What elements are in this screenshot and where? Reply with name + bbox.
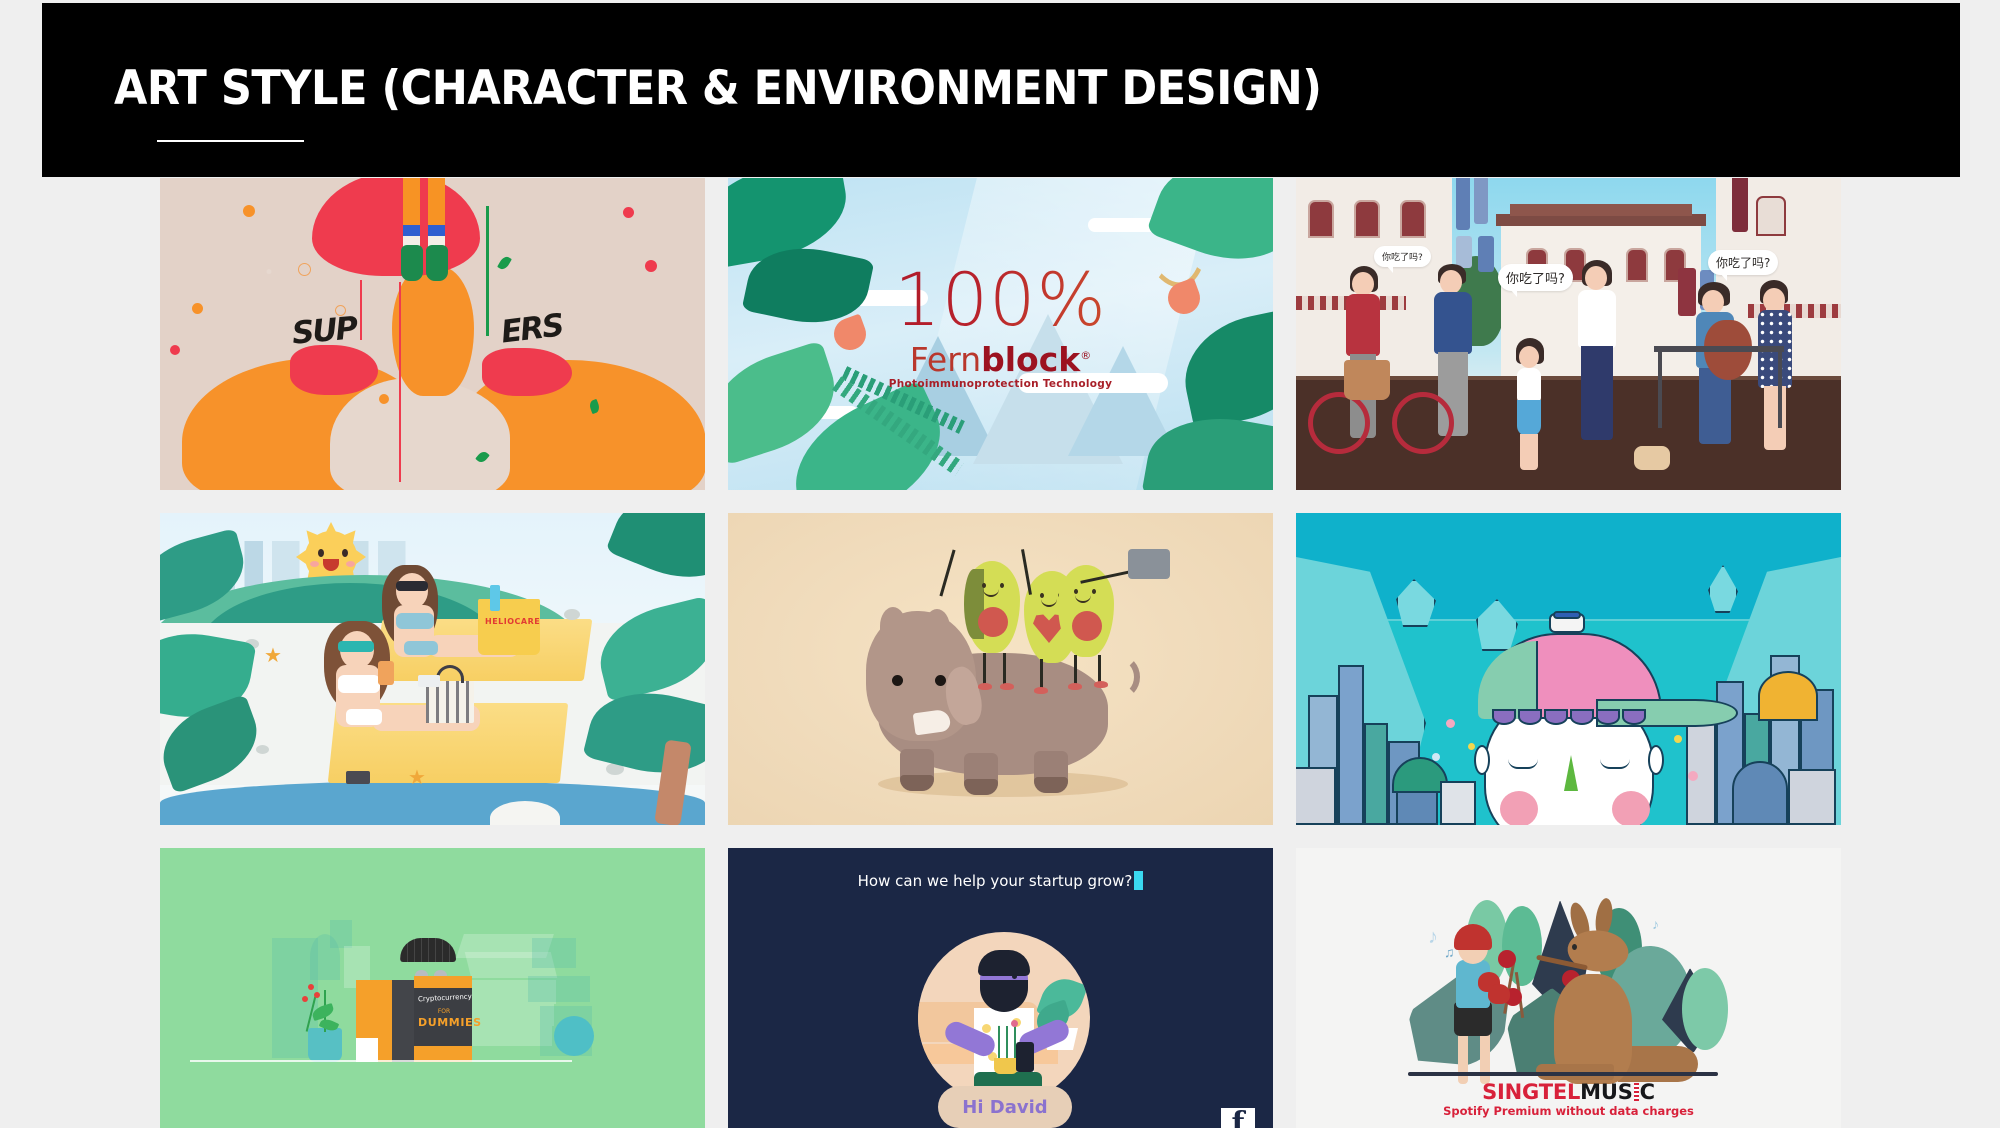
- kangaroo-eye: [1572, 944, 1577, 950]
- book-pages: [356, 1038, 378, 1062]
- bangs-5: [1596, 709, 1620, 725]
- bubble-5: [1688, 771, 1698, 781]
- phone-front: [346, 771, 370, 784]
- book-series-label: DUMMIES: [418, 1016, 470, 1029]
- brand-mus: MUS: [1580, 1080, 1632, 1104]
- artwork-gallery-grid: SUP ERS 100%: [160, 178, 1842, 1114]
- brand-light-part: Fern: [910, 340, 981, 379]
- boxing-glove-2: [1488, 984, 1510, 1004]
- rhino-ear-left: [880, 607, 906, 645]
- orange-blob-center: [392, 266, 474, 396]
- bangs-2: [1518, 709, 1542, 725]
- red-shape-right: [482, 348, 572, 396]
- brand-singtel: SINGTEL: [1482, 1080, 1580, 1104]
- fernblock-tagline: Photoimmunoprotection Technology: [728, 378, 1273, 390]
- plant-berry-3: [314, 992, 320, 998]
- starfish-1: ★: [264, 643, 282, 668]
- building-3: [1364, 723, 1388, 825]
- fernblock-lockup: 100% Fernblock® Photoimmunoprotection Te…: [728, 264, 1273, 390]
- music-note-1: ♪: [1428, 926, 1438, 949]
- book-dark-spine: [392, 980, 414, 1062]
- dot-5: [170, 345, 180, 355]
- shirt-flower-1: [982, 1024, 991, 1033]
- building-7: [1440, 781, 1476, 825]
- busker-table: [1654, 346, 1784, 352]
- gallery-item-crypto-dummies[interactable]: Cryptocurrency FOR DUMMIES: [160, 848, 705, 1128]
- building-5: [1296, 767, 1336, 825]
- laundry-6: [1678, 268, 1696, 316]
- dot-1: [243, 205, 255, 217]
- rock-4: [256, 745, 269, 754]
- book-for-label: FOR: [418, 1008, 470, 1015]
- window-3: [1400, 200, 1426, 238]
- window-6: [1626, 248, 1648, 282]
- gallery-item-beach-sunbathers[interactable]: HELIOCARE ★ ★: [160, 513, 705, 825]
- plant-pot: [308, 1028, 342, 1062]
- text-cursor: [1134, 871, 1143, 890]
- avatar-eye: [1012, 974, 1017, 979]
- speech-bubble-1: 你吃了吗?: [1374, 246, 1431, 267]
- sun-cheek-left: [310, 561, 319, 567]
- registered-mark: ®: [1080, 349, 1091, 362]
- plant-berry-1: [308, 984, 314, 990]
- shoe-left: [401, 245, 423, 281]
- dot-2: [623, 207, 634, 218]
- ear-right: [1648, 745, 1664, 775]
- camera: [1128, 549, 1170, 579]
- gallery-item-doodle-city-character[interactable]: [1296, 513, 1841, 825]
- music-note-2: ♫: [1444, 944, 1455, 960]
- ring-1: [298, 263, 311, 276]
- chat-question-row: How can we help your startup grow?: [728, 871, 1273, 890]
- dot-6: [379, 394, 389, 404]
- dot-4: [192, 303, 203, 314]
- percent-value: 100%: [728, 264, 1273, 337]
- cap-knob-top: [1553, 611, 1581, 619]
- ear-left: [1474, 745, 1490, 775]
- laundry-4: [1478, 236, 1494, 272]
- window-1: [1308, 200, 1334, 238]
- window-2: [1354, 200, 1380, 238]
- cherry-1: [1498, 950, 1516, 968]
- facebook-logo: f: [1221, 1108, 1255, 1128]
- sock-blue-right: [428, 225, 445, 236]
- page-title: ART STYLE (CHARACTER & ENVIRONMENT DESIG…: [114, 61, 1321, 116]
- red-shape-left: [290, 345, 378, 395]
- rock-2: [564, 609, 580, 620]
- speech-bubble-3: 你吃了吗?: [1708, 250, 1778, 275]
- window-8: [1756, 196, 1786, 236]
- desk-line: [190, 1060, 572, 1062]
- music-note-3: ♪: [1652, 916, 1659, 932]
- flower-vase: [994, 1058, 1018, 1074]
- rhino-tail: [1100, 655, 1140, 699]
- singtel-music-tagline: Spotify Premium without data charges: [1296, 1104, 1841, 1118]
- phone: [1016, 1042, 1034, 1072]
- ground-line: [1408, 1072, 1718, 1076]
- water-bottle: [490, 585, 500, 611]
- rhino-hoof-back: [1034, 777, 1068, 793]
- bubble-4: [1674, 735, 1682, 743]
- bangs-6: [1622, 709, 1646, 725]
- rhino-hoof-front: [900, 775, 934, 791]
- speech-bubble-2: 你吃了吗?: [1498, 264, 1573, 291]
- user-name-label: Hi David: [962, 1097, 1047, 1118]
- shoe-right: [426, 245, 448, 281]
- bubble-3: [1432, 753, 1440, 761]
- tropical-leaf-4: [605, 513, 705, 596]
- table-leg-left: [1658, 352, 1662, 428]
- dot-3: [645, 260, 657, 272]
- rhino-ear-right: [924, 609, 950, 647]
- cat: [1634, 446, 1670, 470]
- bikini-top-back: [396, 613, 434, 629]
- foliage-leaf-8: [1682, 968, 1728, 1050]
- gallery-item-singtel-music[interactable]: ♪ ♫ ♪ SINGTELMUSC Spotify Premium withou…: [1296, 848, 1841, 1128]
- exercise-ball: [554, 1016, 594, 1056]
- gallery-item-chinatown-street[interactable]: 你吃了吗? 你吃了吗? 你吃了吗?: [1296, 178, 1841, 490]
- red-skirt: [312, 178, 480, 276]
- sea: [160, 781, 705, 825]
- laundry-1: [1456, 178, 1470, 230]
- brand-c: C: [1640, 1080, 1655, 1104]
- title-underline-rule: [157, 140, 304, 142]
- rhino-eye-right: [935, 675, 946, 686]
- brand-bold-part: block: [981, 340, 1080, 379]
- cheek-left: [1500, 791, 1538, 825]
- building-1: [1338, 665, 1364, 825]
- chat-question-text: How can we help your startup grow?: [858, 872, 1133, 890]
- phone-back: [418, 675, 440, 687]
- red-stroke-2: [399, 282, 401, 482]
- gallery-item-avocados-rhino[interactable]: [728, 513, 1273, 825]
- laundry-2: [1474, 178, 1488, 224]
- drink-cup: [378, 661, 394, 685]
- hair: [400, 938, 456, 962]
- handwritten-text-left: SUP: [291, 310, 358, 351]
- bicycle-basket: [1344, 360, 1390, 400]
- plant-berry-2: [302, 996, 308, 1002]
- sun-eye-right: [342, 549, 348, 557]
- rhino-hoof-mid: [964, 779, 998, 795]
- bg-shape-5: [532, 938, 576, 968]
- sock-blue-left: [403, 225, 420, 236]
- sun-cheek-right: [346, 561, 355, 567]
- bg-shape-6: [528, 976, 590, 1002]
- bikini-top-front: [338, 675, 380, 693]
- avatar-hair: [978, 950, 1030, 976]
- table-leg-right: [1778, 352, 1782, 428]
- bangs-4: [1570, 709, 1594, 725]
- bikini-bottom-front: [346, 709, 382, 725]
- bikini-bottom-back: [404, 641, 438, 655]
- laundry-5: [1732, 178, 1748, 232]
- gallery-item-startup-chatbot[interactable]: How can we help your startup grow?: [728, 848, 1273, 1128]
- bg-shape-3: [330, 920, 352, 948]
- user-name-plate: Hi David: [938, 1086, 1072, 1128]
- tote-bag-logo: HELIOCARE: [485, 617, 535, 629]
- gallery-item-fernblock[interactable]: 100% Fernblock® Photoimmunoprotection Te…: [728, 178, 1273, 490]
- roof-middle-upper: [1510, 204, 1692, 216]
- fernblock-wordmark: Fernblock®: [728, 343, 1273, 376]
- laundry-3: [1456, 236, 1472, 268]
- bangs-3: [1544, 709, 1568, 725]
- singtel-music-wordmark: SINGTELMUSC: [1296, 1080, 1841, 1104]
- bangs-1: [1492, 709, 1516, 725]
- gallery-item-supers-abstract[interactable]: SUP ERS: [160, 178, 705, 490]
- starfish-2: ★: [408, 765, 426, 790]
- handbag-stripes: [426, 681, 474, 723]
- building-13: [1732, 761, 1788, 825]
- bubble-2: [1468, 743, 1475, 750]
- sun-eye-left: [318, 549, 324, 557]
- cheek-right: [1612, 791, 1650, 825]
- yellow-arch: [1758, 671, 1818, 721]
- brand-i-bar: [1634, 1083, 1639, 1101]
- avatar: [918, 932, 1090, 1104]
- slide-page: ART STYLE (CHARACTER & ENVIRONMENT DESIG…: [0, 0, 2000, 1128]
- handwritten-text-right: ERS: [499, 307, 564, 350]
- rhino-eye-left: [892, 675, 903, 686]
- bubble-1: [1446, 719, 1455, 728]
- green-stroke: [486, 206, 489, 336]
- red-stroke-1: [360, 280, 362, 340]
- slide-header: ART STYLE (CHARACTER & ENVIRONMENT DESIG…: [42, 3, 1960, 177]
- building-14: [1788, 769, 1836, 825]
